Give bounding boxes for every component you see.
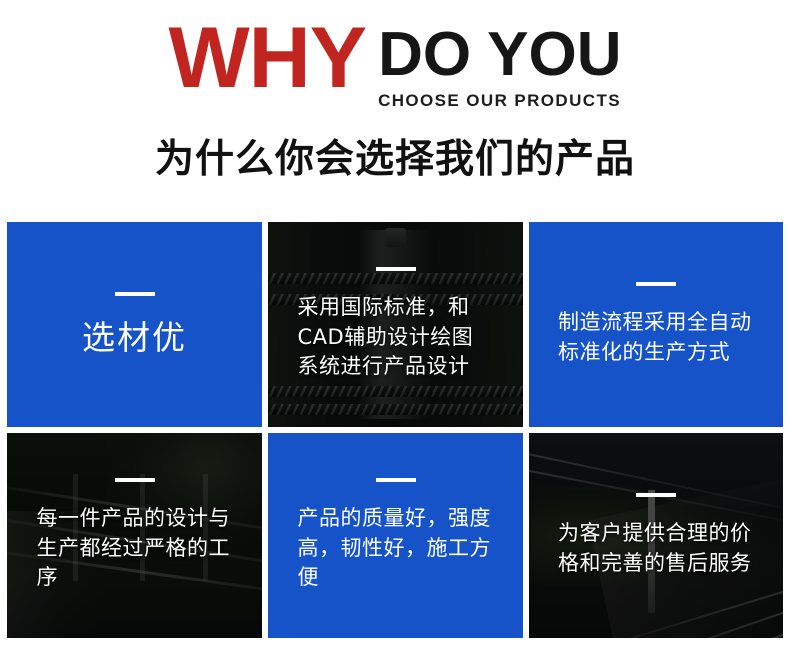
banner-header: WHY DO YOU CHOOSE OUR PRODUCTS 为什么你会选择我们… — [0, 0, 790, 215]
feature-card-material[interactable]: 选材优 — [7, 222, 262, 427]
headline-block: WHY DO YOU CHOOSE OUR PRODUCTS — [0, 18, 790, 118]
headline-do-you: DO YOU — [378, 24, 621, 86]
feature-card-service[interactable]: 为客户提供合理的价格和完善的售后服务 — [529, 433, 783, 638]
feature-card-text: 采用国际标准，和CAD辅助设计绘图系统进行产品设计 — [298, 293, 494, 382]
feature-card-standards[interactable]: 采用国际标准，和CAD辅助设计绘图系统进行产品设计 — [268, 222, 523, 427]
divider-dash-icon — [376, 267, 416, 271]
feature-card-text: 制造流程采用全自动标准化的生产方式 — [558, 308, 754, 368]
divider-dash-icon — [115, 292, 155, 296]
headline-subtitle-chinese: 为什么你会选择我们的产品 — [0, 128, 790, 184]
feature-grid: 选材优 采用国际标准，和CAD辅助设计绘图系统进行产品设计 制 — [7, 222, 783, 638]
feature-card-automation[interactable]: 制造流程采用全自动标准化的生产方式 — [529, 222, 783, 427]
feature-card-text: 为客户提供合理的价格和完善的售后服务 — [558, 519, 754, 579]
divider-dash-icon — [636, 282, 676, 286]
divider-dash-icon — [115, 478, 155, 482]
feature-card-text: 产品的质量好，强度高，韧性好，施工方便 — [298, 504, 494, 593]
feature-card-process[interactable]: 每一件产品的设计与生产都经过严格的工序 — [7, 433, 262, 638]
feature-card-text: 每一件产品的设计与生产都经过严格的工序 — [37, 504, 233, 593]
feature-card-text: 选材优 — [82, 318, 187, 358]
headline-choose-our-products: CHOOSE OUR PRODUCTS — [378, 92, 621, 111]
feature-card-quality[interactable]: 产品的质量好，强度高，韧性好，施工方便 — [268, 433, 523, 638]
headline-why: WHY — [168, 18, 366, 100]
divider-dash-icon — [636, 493, 676, 497]
promo-banner: WHY DO YOU CHOOSE OUR PRODUCTS 为什么你会选择我们… — [0, 0, 790, 665]
divider-dash-icon — [376, 478, 416, 482]
